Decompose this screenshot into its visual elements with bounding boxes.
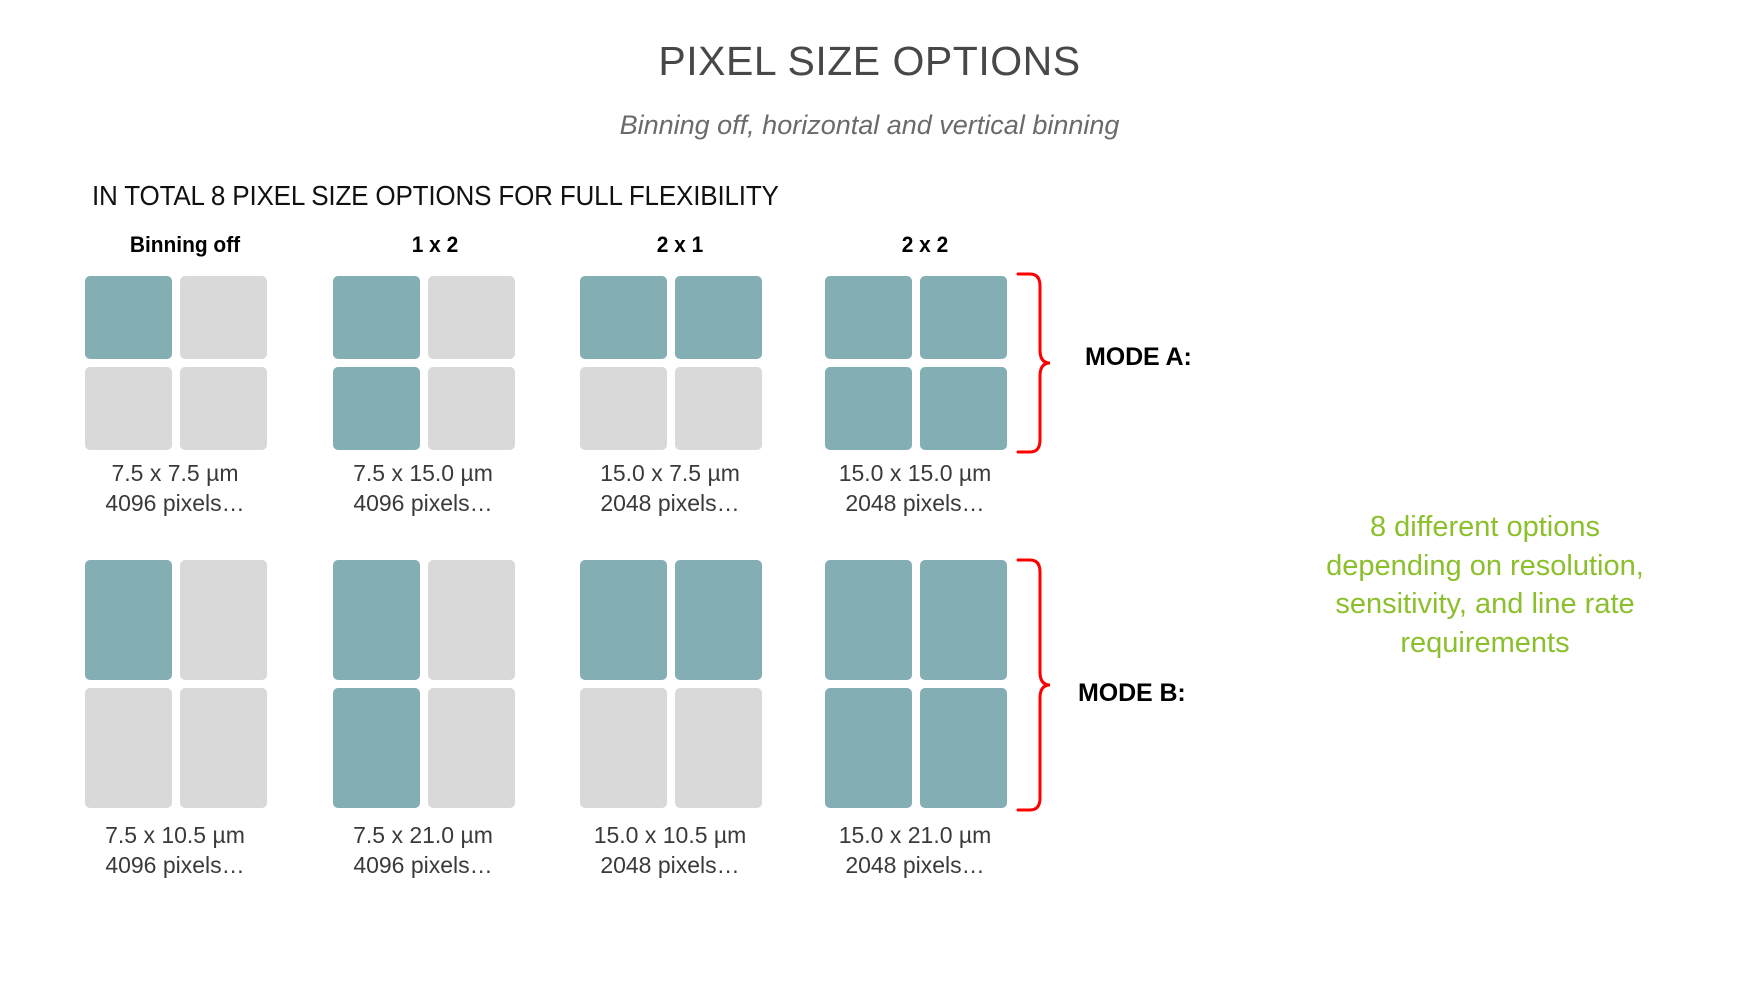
pixel-cell-bottom-left (580, 367, 667, 450)
caption-mode-b-2x1: 15.0 x 10.5 µm 2048 pixels… (570, 820, 770, 881)
pixel-grid-mode-b-2x1 (580, 560, 762, 808)
pixel-cell-bottom-left (333, 688, 420, 808)
options-note-line-4: requirements (1275, 624, 1695, 663)
brace-mode-b (1016, 556, 1056, 814)
pixel-cell-bottom-right (920, 367, 1007, 450)
options-note: 8 different options depending on resolut… (1275, 508, 1695, 662)
caption-mode-b-binning-off: 7.5 x 10.5 µm 4096 pixels… (75, 820, 275, 881)
caption-size: 7.5 x 21.0 µm (353, 822, 493, 848)
caption-mode-b-1x2: 7.5 x 21.0 µm 4096 pixels… (323, 820, 523, 881)
caption-size: 15.0 x 10.5 µm (594, 822, 747, 848)
section-heading: IN TOTAL 8 PIXEL SIZE OPTIONS FOR FULL F… (92, 180, 779, 212)
mode-b-label: MODE B: (1078, 679, 1186, 708)
pixel-cell-bottom-left (85, 367, 172, 450)
page-title: PIXEL SIZE OPTIONS (0, 38, 1739, 85)
caption-mode-a-1x2: 7.5 x 15.0 µm 4096 pixels… (323, 458, 523, 519)
pixel-cell-bottom-left (825, 367, 912, 450)
pixel-cell-top-right (920, 276, 1007, 359)
caption-pixels: 4096 pixels… (323, 488, 523, 518)
caption-mode-b-2x2: 15.0 x 21.0 µm 2048 pixels… (815, 820, 1015, 881)
page-subtitle: Binning off, horizontal and vertical bin… (0, 110, 1739, 141)
pixel-cell-top-right (428, 560, 515, 680)
pixel-cell-bottom-right (920, 688, 1007, 808)
caption-size: 15.0 x 7.5 µm (600, 460, 740, 486)
caption-pixels: 4096 pixels… (75, 488, 275, 518)
column-header-1x2: 1 x 2 (345, 232, 526, 258)
pixel-grid-mode-b-binning-off (85, 560, 267, 808)
pixel-cell-top-left (825, 276, 912, 359)
pixel-cell-top-right (428, 276, 515, 359)
mode-a-label: MODE A: (1085, 343, 1192, 372)
caption-size: 7.5 x 10.5 µm (105, 822, 245, 848)
pixel-cell-bottom-left (333, 367, 420, 450)
pixel-cell-bottom-right (428, 688, 515, 808)
pixel-cell-bottom-left (580, 688, 667, 808)
pixel-grid-mode-b-1x2 (333, 560, 515, 808)
caption-size: 15.0 x 15.0 µm (839, 460, 992, 486)
pixel-grid-mode-b-2x2 (825, 560, 1007, 808)
options-note-line-1: 8 different options (1275, 508, 1695, 547)
caption-pixels: 2048 pixels… (815, 850, 1015, 880)
caption-size: 7.5 x 15.0 µm (353, 460, 493, 486)
options-note-line-3: sensitivity, and line rate (1275, 585, 1695, 624)
pixel-cell-bottom-right (675, 367, 762, 450)
caption-pixels: 4096 pixels… (323, 850, 523, 880)
column-header-binning-off: Binning off (95, 232, 276, 258)
caption-size: 7.5 x 7.5 µm (111, 460, 238, 486)
caption-mode-a-2x2: 15.0 x 15.0 µm 2048 pixels… (815, 458, 1015, 519)
pixel-cell-top-right (675, 560, 762, 680)
column-header-2x2: 2 x 2 (835, 232, 1016, 258)
pixel-cell-top-left (580, 560, 667, 680)
pixel-cell-top-right (920, 560, 1007, 680)
caption-mode-a-2x1: 15.0 x 7.5 µm 2048 pixels… (570, 458, 770, 519)
pixel-grid-mode-a-2x2 (825, 276, 1007, 450)
pixel-cell-top-left (580, 276, 667, 359)
caption-pixels: 2048 pixels… (570, 488, 770, 518)
options-note-line-2: depending on resolution, (1275, 547, 1695, 586)
caption-pixels: 2048 pixels… (570, 850, 770, 880)
pixel-grid-mode-a-binning-off (85, 276, 267, 450)
pixel-grid-mode-a-2x1 (580, 276, 762, 450)
pixel-cell-bottom-left (825, 688, 912, 808)
pixel-cell-top-left (333, 276, 420, 359)
pixel-cell-top-right (675, 276, 762, 359)
pixel-cell-bottom-left (85, 688, 172, 808)
pixel-cell-bottom-right (180, 367, 267, 450)
pixel-cell-top-left (85, 276, 172, 359)
pixel-cell-top-left (333, 560, 420, 680)
pixel-cell-bottom-right (428, 367, 515, 450)
brace-mode-a (1016, 270, 1056, 456)
caption-pixels: 4096 pixels… (75, 850, 275, 880)
column-header-2x1: 2 x 1 (590, 232, 771, 258)
caption-pixels: 2048 pixels… (815, 488, 1015, 518)
pixel-cell-bottom-right (675, 688, 762, 808)
pixel-grid-mode-a-1x2 (333, 276, 515, 450)
caption-mode-a-binning-off: 7.5 x 7.5 µm 4096 pixels… (75, 458, 275, 519)
pixel-cell-top-left (85, 560, 172, 680)
pixel-cell-top-right (180, 560, 267, 680)
caption-size: 15.0 x 21.0 µm (839, 822, 992, 848)
pixel-cell-top-left (825, 560, 912, 680)
pixel-cell-top-right (180, 276, 267, 359)
pixel-cell-bottom-right (180, 688, 267, 808)
